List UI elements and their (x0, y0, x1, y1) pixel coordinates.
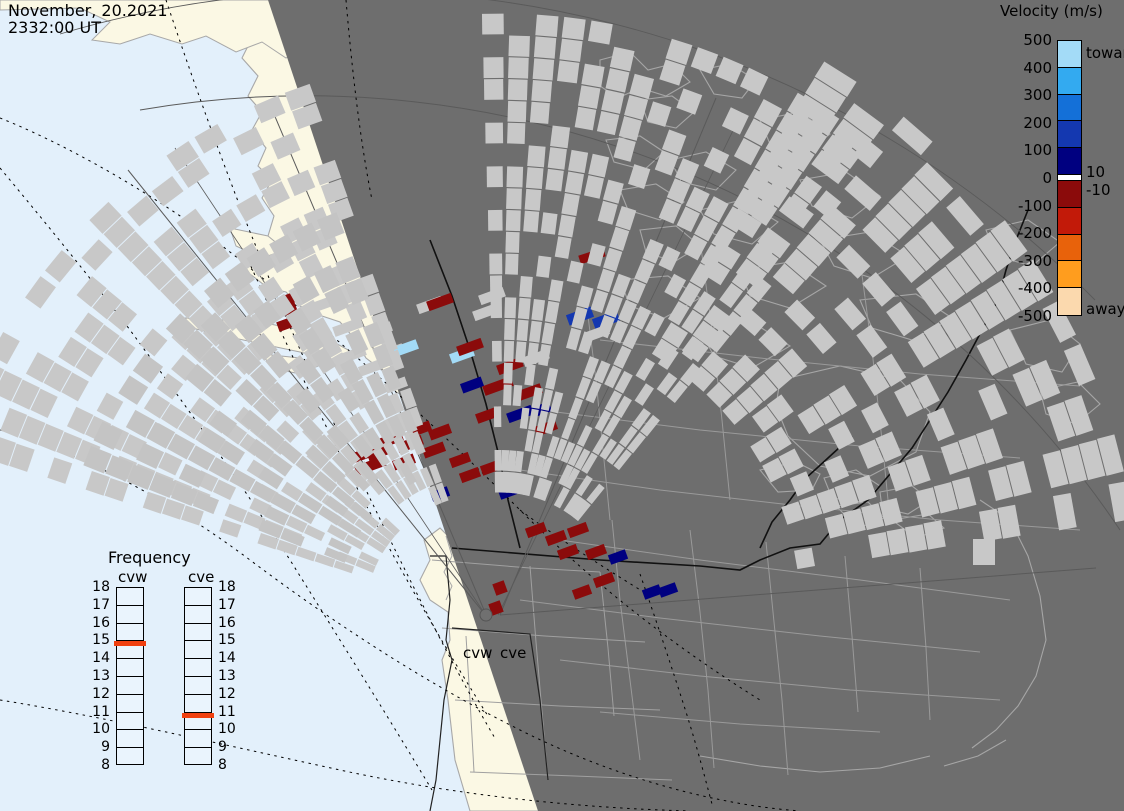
ground-scatter-cell (557, 60, 579, 83)
timestamp-label: November, 20.2021 2332:00 UT (8, 2, 168, 36)
frequency-bar-cve (184, 587, 212, 765)
colorbar-segment (1058, 148, 1081, 175)
frequency-cell (117, 624, 143, 642)
frequency-tick: 10 (218, 721, 242, 737)
ground-scatter-cell (531, 80, 552, 102)
ground-scatter-cell (504, 319, 515, 340)
colorbar-toward-label: toward (1086, 44, 1124, 62)
frequency-tick: 18 (86, 579, 110, 595)
ground-scatter-cell (536, 256, 551, 278)
ground-scatter-cell (541, 212, 558, 234)
frequency-tick: 14 (218, 650, 242, 666)
ground-scatter-cell (484, 79, 503, 100)
frequency-bar-cvw (116, 587, 144, 765)
colorbar-zero-upper-label: 10 (1086, 163, 1105, 181)
frequency-cell (185, 606, 211, 624)
colorbar-segment (1058, 235, 1081, 262)
ground-scatter-cell (506, 188, 522, 209)
colorbar-tick: 300 (998, 86, 1052, 104)
frequency-tick: 14 (86, 650, 110, 666)
ground-scatter-cell (508, 79, 528, 100)
velocity-colorbar (1057, 40, 1082, 316)
colorbar-segment (1058, 288, 1081, 315)
frequency-tick: 17 (86, 597, 110, 613)
frequency-cell (185, 695, 211, 713)
ground-scatter-cell (523, 211, 539, 233)
frequency-cell (117, 695, 143, 713)
ground-scatter-cell (517, 320, 529, 341)
ground-scatter-cell (483, 57, 503, 78)
frequency-cell (185, 659, 211, 677)
colorbar-tick: 400 (998, 59, 1052, 77)
frequency-tick: 12 (218, 686, 242, 702)
ground-scatter-cell (578, 85, 600, 109)
ground-scatter-cell (507, 123, 525, 144)
frequency-cell (185, 730, 211, 748)
ground-scatter-cell (525, 189, 542, 211)
ground-scatter-cell (588, 21, 613, 45)
ground-scatter-cell (575, 107, 597, 131)
ground-scatter-cell (507, 101, 526, 122)
ground-scatter-cell (487, 166, 503, 187)
radar-station-marker (480, 609, 492, 621)
ground-scatter-cell (504, 297, 516, 318)
frequency-cell (117, 730, 143, 748)
ground-scatter-cell (559, 39, 582, 62)
frequency-marker-cve (182, 713, 214, 718)
ground-scatter-cell (506, 166, 523, 187)
ground-scatter-cell (492, 341, 502, 362)
frequency-cell (185, 641, 211, 659)
ground-scatter-cell (581, 64, 604, 88)
ground-scatter-cell (533, 58, 555, 80)
colorbar-tick: -100 (998, 197, 1052, 215)
colorbar-segment (1058, 41, 1081, 68)
velocity-cell (973, 539, 995, 565)
ground-scatter-cell (489, 254, 502, 275)
ground-scatter-cell (482, 14, 504, 35)
colorbar-tick: 0 (998, 169, 1052, 187)
ground-scatter-cell (506, 210, 521, 231)
colorbar-tick: 100 (998, 141, 1052, 159)
ground-scatter-cell (519, 276, 533, 298)
ground-scatter-cell (505, 232, 519, 253)
ground-scatter-cell (485, 123, 503, 144)
ground-scatter-cell (527, 145, 545, 167)
frequency-cell (117, 606, 143, 624)
radar-map-figure: November, 20.2021 2332:00 UT Velocity (m… (0, 0, 1124, 811)
frequency-marker-cvw (114, 641, 146, 646)
station-label-cvw: cvw (463, 644, 492, 662)
ground-scatter-cell (545, 169, 563, 192)
frequency-cell (117, 748, 143, 766)
colorbar-tick: -500 (998, 307, 1052, 325)
ground-scatter-cell (488, 210, 503, 231)
station-label-cve: cve (500, 644, 526, 662)
frequency-tick: 16 (86, 615, 110, 631)
ground-scatter-cell (548, 147, 567, 170)
colorbar-segment (1058, 261, 1081, 288)
ground-scatter-cell (503, 363, 512, 384)
colorbar-segment (1058, 181, 1081, 208)
frequency-cell (117, 588, 143, 606)
ground-scatter-cell (534, 36, 556, 58)
frequency-tick: 13 (218, 668, 242, 684)
ground-scatter-cell (508, 35, 529, 56)
map-canvas (0, 0, 1124, 811)
ground-scatter-cell (501, 450, 509, 471)
ground-scatter-cell (562, 17, 586, 40)
ground-scatter-cell (535, 15, 558, 37)
frequency-cell (117, 677, 143, 695)
frequency-tick: 9 (86, 739, 110, 755)
frequency-cell (185, 677, 211, 695)
ground-scatter-cell (513, 385, 523, 406)
frequency-cell (185, 588, 211, 606)
ground-scatter-cell (504, 341, 514, 362)
ground-scatter-cell (518, 298, 531, 320)
ground-scatter-cell (530, 102, 550, 124)
frequency-tick: 9 (218, 739, 242, 755)
frequency-tick: 16 (218, 615, 242, 631)
frequency-cell (117, 713, 143, 731)
colorbar-segment (1058, 68, 1081, 95)
ground-scatter-cell (503, 384, 512, 405)
ground-scatter-cell (494, 406, 501, 427)
frequency-legend-title: Frequency (108, 548, 191, 567)
frequency-tick: 18 (218, 579, 242, 595)
frequency-tick: 8 (86, 757, 110, 773)
frequency-tick: 11 (218, 704, 242, 720)
frequency-cell (117, 659, 143, 677)
frequency-tick: 12 (86, 686, 110, 702)
colorbar-segment (1058, 121, 1081, 148)
frequency-cell (185, 624, 211, 642)
frequency-radar-name: cvw (118, 568, 147, 586)
frequency-tick: 8 (218, 757, 242, 773)
frequency-tick: 15 (86, 632, 110, 648)
colorbar-tick: 200 (998, 114, 1052, 132)
ground-scatter-cell (794, 548, 815, 570)
ground-scatter-cell (495, 450, 502, 471)
frequency-cell (185, 748, 211, 766)
ground-scatter-cell (610, 47, 635, 72)
colorbar-title: Velocity (m/s) (1000, 2, 1103, 20)
colorbar-tick: 500 (998, 31, 1052, 49)
colorbar-tick: -400 (998, 279, 1052, 297)
frequency-tick: 11 (86, 704, 110, 720)
frequency-tick: 15 (218, 632, 242, 648)
frequency-tick: 17 (218, 597, 242, 613)
colorbar-zero-lower-label: -10 (1086, 181, 1111, 199)
ground-scatter-cell (526, 167, 544, 189)
colorbar-segment (1058, 95, 1081, 122)
frequency-radar-name: cve (188, 568, 214, 586)
ground-scatter-cell (515, 341, 526, 362)
ground-scatter-cell (491, 297, 502, 318)
colorbar-tick: -200 (998, 224, 1052, 242)
ground-scatter-cell (490, 275, 502, 296)
colorbar-away-label: away (1086, 300, 1124, 318)
frequency-tick: 10 (86, 721, 110, 737)
ground-scatter-cell (550, 125, 570, 148)
ground-scatter-cell (505, 254, 518, 275)
frequency-tick: 13 (86, 668, 110, 684)
ground-scatter-cell (568, 150, 588, 173)
ground-scatter-cell (508, 57, 529, 78)
colorbar-tick: -300 (998, 252, 1052, 270)
colorbar-segment (1058, 208, 1081, 235)
